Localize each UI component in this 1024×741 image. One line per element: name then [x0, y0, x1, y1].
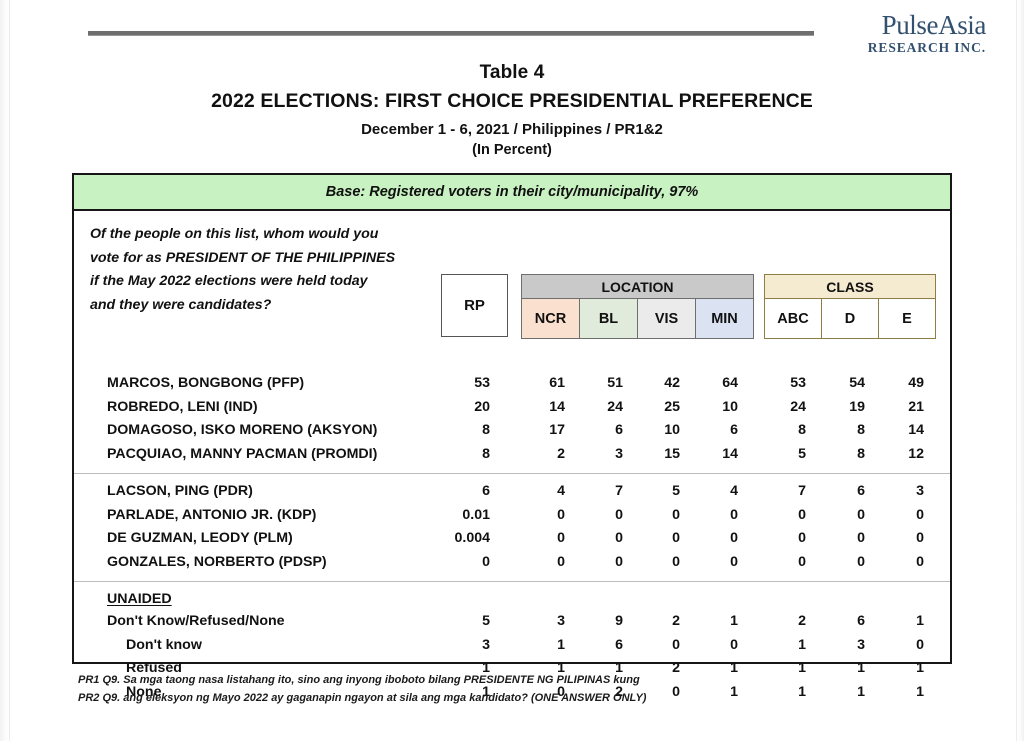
cell-bl: 0: [569, 504, 623, 528]
cell-min: 4: [684, 480, 738, 504]
column-group-location-label: LOCATION: [522, 275, 753, 299]
cell-e: 21: [870, 396, 924, 420]
cell-min: 0: [684, 551, 738, 575]
cell-rp: 6: [436, 480, 490, 504]
cell-ncr: 0: [511, 504, 565, 528]
cell-d: 6: [811, 480, 865, 504]
cell-bl: 9: [569, 610, 623, 634]
table-row: MARCOS, BONGBONG (PFP)5361514264535449: [74, 372, 950, 396]
column-header-d: D: [821, 299, 878, 338]
cell-bl: 7: [569, 480, 623, 504]
cell-e: 12: [870, 443, 924, 467]
cell-abc: 0: [752, 551, 806, 575]
question-line-3: if the May 2022 elections were held toda…: [90, 270, 490, 294]
question-line-1: Of the people on this list, whom would y…: [90, 223, 490, 247]
footnotes: PR1 Q9. Sa mga taong nasa listahang ito,…: [78, 672, 778, 707]
survey-subtitle: December 1 - 6, 2021 / Philippines / PR1…: [0, 121, 1024, 138]
cell-vis: 2: [626, 610, 680, 634]
cell-rp: 8: [436, 419, 490, 443]
header-rule: [88, 31, 814, 36]
column-group-location-cells: NCR BL VIS MIN: [522, 299, 753, 338]
row-label: DOMAGOSO, ISKO MORENO (AKSYON): [107, 419, 377, 443]
footnote-pr1: PR1 Q9. Sa mga taong nasa listahang ito,…: [78, 672, 778, 690]
cell-e: 0: [870, 551, 924, 575]
document-titles: Table 4 2022 ELECTIONS: FIRST CHOICE PRE…: [0, 62, 1024, 158]
cell-e: 1: [870, 681, 924, 705]
unit-label: (In Percent): [0, 142, 1024, 158]
cell-rp: 5: [436, 610, 490, 634]
cell-abc: 24: [752, 396, 806, 420]
cell-d: 0: [811, 527, 865, 551]
column-header-rp: RP: [441, 274, 508, 337]
cell-abc: 8: [752, 419, 806, 443]
column-header-min: MIN: [695, 299, 753, 338]
cell-d: 0: [811, 504, 865, 528]
cell-ncr: 0: [511, 551, 565, 575]
table-row: DOMAGOSO, ISKO MORENO (AKSYON)8176106881…: [74, 419, 950, 443]
cell-bl: 6: [569, 634, 623, 658]
cell-d: 3: [811, 634, 865, 658]
cell-vis: 5: [626, 480, 680, 504]
cell-e: 0: [870, 504, 924, 528]
cell-ncr: 1: [511, 634, 565, 658]
cell-d: 1: [811, 681, 865, 705]
row-label: Don't Know/Refused/None: [107, 610, 285, 634]
column-group-class-cells: ABC D E: [765, 299, 935, 338]
row-label: DE GUZMAN, LEODY (PLM): [107, 527, 293, 551]
cell-ncr: 4: [511, 480, 565, 504]
table-row: LACSON, PING (PDR)64754763: [74, 480, 950, 504]
cell-d: 6: [811, 610, 865, 634]
row-label: ROBREDO, LENI (IND): [107, 396, 258, 420]
table-body: Of the people on this list, whom would y…: [74, 211, 950, 662]
footnote-pr2: PR2 Q9. ang eleksyon ng Mayo 2022 ay gag…: [78, 690, 778, 708]
cell-abc: 5: [752, 443, 806, 467]
row-label: PACQUIAO, MANNY PACMAN (PROMDI): [107, 443, 377, 467]
cell-vis: 0: [626, 527, 680, 551]
cell-abc: 2: [752, 610, 806, 634]
cell-bl: 24: [569, 396, 623, 420]
row-label: Don't know: [126, 634, 202, 658]
cell-bl: 6: [569, 419, 623, 443]
cell-rp: 8: [436, 443, 490, 467]
cell-min: 0: [684, 634, 738, 658]
cell-min: 14: [684, 443, 738, 467]
row-label: LACSON, PING (PDR): [107, 480, 253, 504]
cell-vis: 0: [626, 634, 680, 658]
table-frame: Base: Registered voters in their city/mu…: [72, 173, 952, 664]
cell-abc: 0: [752, 527, 806, 551]
cell-vis: 42: [626, 372, 680, 396]
cell-e: 49: [870, 372, 924, 396]
question-line-4: and they were candidates?: [90, 294, 490, 318]
row-label: GONZALES, NORBERTO (PDSP): [107, 551, 327, 575]
column-header-vis: VIS: [637, 299, 695, 338]
column-header-e: E: [878, 299, 935, 338]
cell-e: 14: [870, 419, 924, 443]
cell-ncr: 14: [511, 396, 565, 420]
cell-vis: 10: [626, 419, 680, 443]
cell-abc: 0: [752, 504, 806, 528]
cell-e: 1: [870, 610, 924, 634]
cell-abc: 53: [752, 372, 806, 396]
cell-e: 1: [870, 657, 924, 681]
cell-min: 10: [684, 396, 738, 420]
cell-min: 6: [684, 419, 738, 443]
cell-rp: 0.004: [436, 527, 490, 551]
cell-d: 19: [811, 396, 865, 420]
section-heading-row: UNAIDED: [74, 588, 950, 610]
table-row: ROBREDO, LENI (IND)2014242510241921: [74, 396, 950, 420]
row-label: MARCOS, BONGBONG (PFP): [107, 372, 304, 396]
column-group-class: CLASS ABC D E: [764, 274, 936, 339]
column-header-ncr: NCR: [522, 299, 579, 338]
row-group: LACSON, PING (PDR)64754763PARLADE, ANTON…: [74, 473, 950, 581]
cell-e: 0: [870, 527, 924, 551]
column-group-location: LOCATION NCR BL VIS MIN: [521, 274, 754, 339]
cell-min: 0: [684, 527, 738, 551]
base-banner: Base: Registered voters in their city/mu…: [74, 175, 950, 211]
table-row: PARLADE, ANTONIO JR. (KDP)0.010000000: [74, 504, 950, 528]
table-row: Don't Know/Refused/None53921261: [74, 610, 950, 634]
cell-vis: 25: [626, 396, 680, 420]
cell-min: 1: [684, 610, 738, 634]
cell-min: 0: [684, 504, 738, 528]
cell-e: 3: [870, 480, 924, 504]
cell-d: 1: [811, 657, 865, 681]
cell-d: 54: [811, 372, 865, 396]
cell-ncr: 17: [511, 419, 565, 443]
cell-min: 64: [684, 372, 738, 396]
cell-abc: 7: [752, 480, 806, 504]
cell-ncr: 0: [511, 527, 565, 551]
column-group-class-label: CLASS: [765, 275, 935, 299]
cell-vis: 15: [626, 443, 680, 467]
question-line-2: vote for as PRESIDENT OF THE PHILIPPINES: [90, 247, 490, 271]
page-title: 2022 ELECTIONS: FIRST CHOICE PRESIDENTIA…: [0, 90, 1024, 113]
table-row: GONZALES, NORBERTO (PDSP)00000000: [74, 551, 950, 575]
cell-bl: 0: [569, 551, 623, 575]
pulse-asia-logo: PulseAsia RESEARCH INC.: [868, 12, 986, 55]
logo-name: PulseAsia: [868, 12, 986, 39]
row-label: PARLADE, ANTONIO JR. (KDP): [107, 504, 316, 528]
cell-e: 0: [870, 634, 924, 658]
column-header-bl: BL: [579, 299, 637, 338]
cell-ncr: 3: [511, 610, 565, 634]
cell-rp: 0: [436, 551, 490, 575]
cell-ncr: 61: [511, 372, 565, 396]
data-rows: MARCOS, BONGBONG (PFP)5361514264535449RO…: [74, 366, 950, 711]
cell-bl: 3: [569, 443, 623, 467]
document-page: PulseAsia RESEARCH INC. Table 4 2022 ELE…: [0, 0, 1024, 741]
cell-vis: 0: [626, 504, 680, 528]
cell-d: 8: [811, 443, 865, 467]
column-header-abc: ABC: [765, 299, 821, 338]
cell-d: 8: [811, 419, 865, 443]
cell-ncr: 2: [511, 443, 565, 467]
table-number: Table 4: [0, 62, 1024, 84]
cell-rp: 53: [436, 372, 490, 396]
table-row: Don't know31600130: [74, 634, 950, 658]
cell-vis: 0: [626, 551, 680, 575]
cell-d: 0: [811, 551, 865, 575]
table-row: PACQUIAO, MANNY PACMAN (PROMDI)823151458…: [74, 443, 950, 467]
table-row: DE GUZMAN, LEODY (PLM)0.0040000000: [74, 527, 950, 551]
cell-bl: 0: [569, 527, 623, 551]
cell-rp: 20: [436, 396, 490, 420]
cell-bl: 51: [569, 372, 623, 396]
survey-question: Of the people on this list, whom would y…: [90, 223, 490, 317]
logo-tagline: RESEARCH INC.: [868, 41, 986, 55]
section-heading-label: UNAIDED: [107, 588, 172, 610]
row-group: MARCOS, BONGBONG (PFP)5361514264535449RO…: [74, 366, 950, 473]
cell-rp: 0.01: [436, 504, 490, 528]
cell-rp: 3: [436, 634, 490, 658]
cell-abc: 1: [752, 634, 806, 658]
